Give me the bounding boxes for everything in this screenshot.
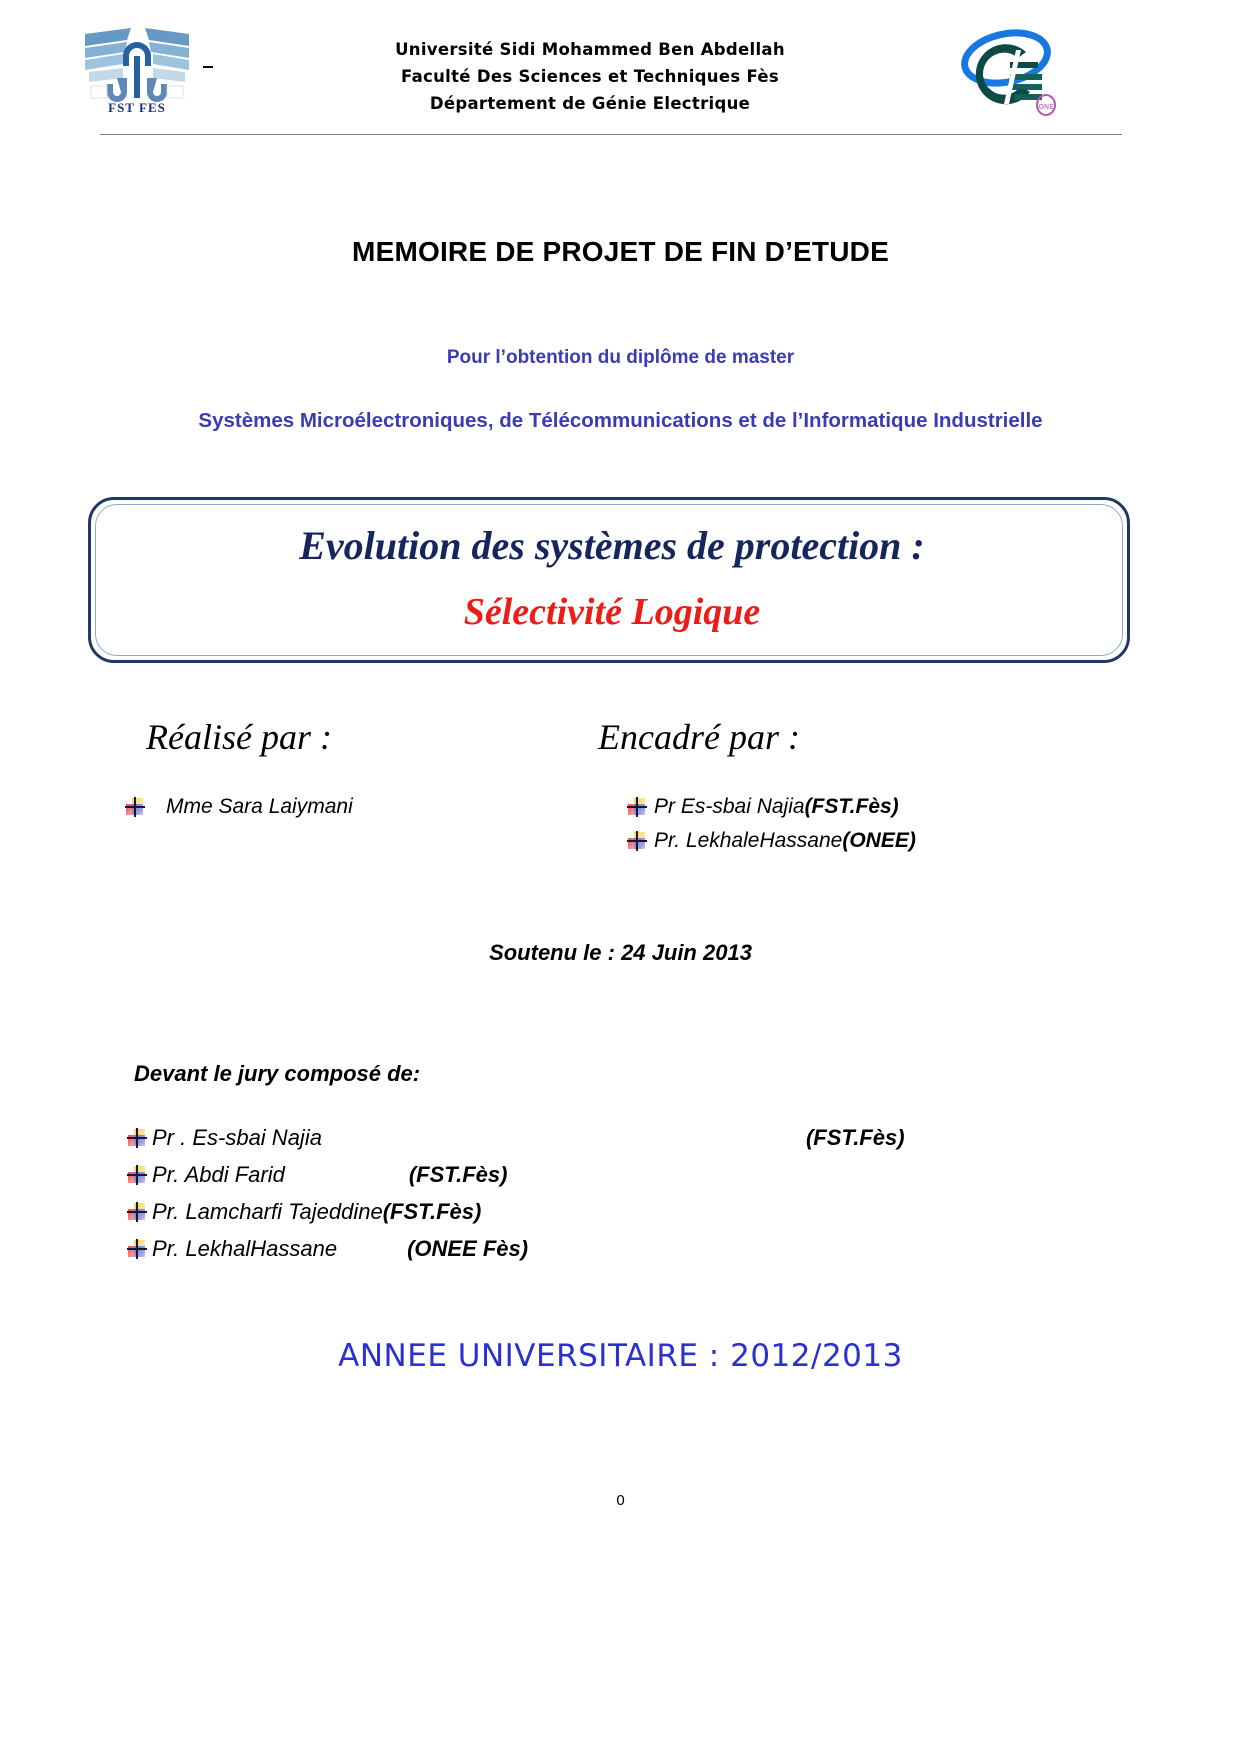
document-page: FST FES Université Sidi Mohammed Ben Abd… [0,0,1241,1754]
institution-line-3: Département de Génie Electrique [280,90,900,117]
jury-heading: Devant le jury composé de: [134,1061,420,1087]
institution-heading: Université Sidi Mohammed Ben Abdellah Fa… [280,36,900,117]
jury-member-name: Pr. LekhalHassane [152,1230,337,1267]
puzzle-bullet-icon [628,832,646,850]
degree-line: Pour l’obtention du diplôme de master [0,347,1241,369]
table-row: Pr. Abdi Farid (FST.Fès) [128,1156,1028,1193]
header-dash [203,66,213,68]
puzzle-bullet-icon [126,798,144,816]
student-name: Mme Sara Laiymani [166,790,353,824]
supervisor-affiliation: (ONEE) [842,824,916,858]
fst-fes-logo: FST FES [83,26,191,118]
document-main-title: MEMOIRE DE PROJET DE FIN D’ETUDE [0,236,1241,268]
jury-member-affiliation: (FST.Fès) [383,1193,482,1230]
table-row: Pr. LekhalHassane (ONEE Fès) [128,1230,1028,1267]
page-number: 0 [0,1492,1241,1509]
jury-member-name: Pr. Abdi Farid [152,1156,285,1193]
puzzle-bullet-icon [128,1166,146,1184]
supervisor-affiliation: (FST.Fès) [805,790,899,824]
jury-member-name: Pr . Es-sbai Najia [152,1119,322,1156]
table-row: Pr. Lamcharfi Tajeddine (FST.Fès) [128,1193,1028,1230]
list-item: Pr. LekhaleHassane (ONEE) [628,824,1148,858]
supervisor-name: Pr Es-sbai Najia [654,790,805,824]
defense-date: Soutenu le : 24 Juin 2013 [0,940,1241,966]
header-separator-rule [100,134,1122,135]
jury-member-affiliation: (FST.Fès) [806,1119,905,1156]
jury-member-affiliation: (ONEE Fès) [407,1230,528,1267]
program-line: Systèmes Microélectroniques, de Télécomm… [150,403,1091,438]
thesis-title-line-1: Evolution des systèmes de protection : [91,522,1133,569]
encadre-par-label: Encadré par : [598,716,800,758]
jury-member-name: Pr. Lamcharfi Tajeddine [152,1193,383,1230]
page-header: FST FES Université Sidi Mohammed Ben Abd… [0,8,1241,126]
onee-logo-graphic: ONE [948,22,1060,122]
thesis-title-box: Evolution des systèmes de protection : S… [88,497,1130,663]
supervisor-list: Pr Es-sbai Najia (FST.Fès) Pr. LekhaleHa… [628,790,1148,858]
puzzle-bullet-icon [128,1240,146,1258]
institution-line-2: Faculté Des Sciences et Techniques Fès [280,63,900,90]
institution-line-1: Université Sidi Mohammed Ben Abdellah [280,36,900,63]
fst-logo-label: FST FES [83,100,191,116]
puzzle-bullet-icon [128,1203,146,1221]
table-row: Pr . Es-sbai Najia (FST.Fès) [128,1119,1028,1156]
student-list: Mme Sara Laiymani [126,790,596,824]
svg-text:ONE: ONE [1038,103,1053,111]
realise-par-label: Réalisé par : [146,716,332,758]
supervisor-name: Pr. LekhaleHassane [654,824,842,858]
list-item: Pr Es-sbai Najia (FST.Fès) [628,790,1148,824]
jury-list: Pr . Es-sbai Najia (FST.Fès) Pr. Abdi Fa… [128,1119,1028,1267]
list-item: Mme Sara Laiymani [126,790,596,824]
puzzle-bullet-icon [128,1129,146,1147]
academic-year: ANNEE UNIVERSITAIRE : 2012/2013 [0,1338,1241,1374]
thesis-title-line-2: Sélectivité Logique [91,590,1133,634]
puzzle-bullet-icon [628,798,646,816]
onee-logo: ONE [948,22,1060,122]
jury-member-affiliation: (FST.Fès) [409,1156,508,1193]
